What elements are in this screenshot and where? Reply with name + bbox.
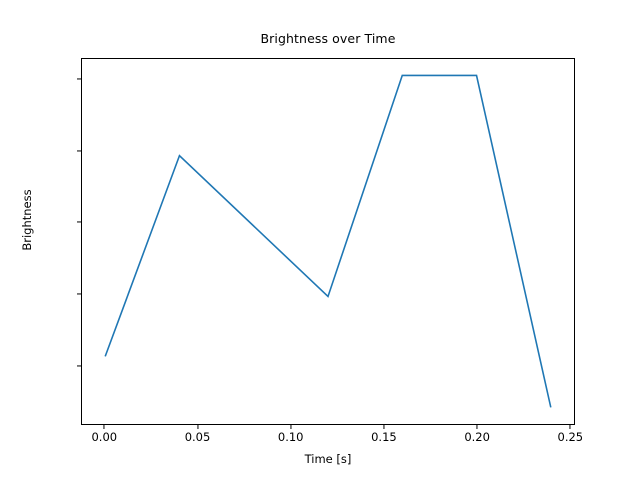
matplotlib-figure: Brightness over Time Brightness 30004000…	[0, 0, 640, 480]
x-tick-label: 0.05	[185, 430, 211, 444]
x-tick-mark	[477, 425, 478, 429]
x-tick-mark	[104, 425, 105, 429]
x-tick-label: 0.10	[278, 430, 304, 444]
x-axis-label: Time [s]	[81, 452, 575, 466]
y-axis-label: Brightness	[20, 170, 34, 270]
line-series-brightness	[82, 59, 574, 424]
x-tick-mark	[197, 425, 198, 429]
x-tick-mark	[570, 425, 571, 429]
x-tick-label: 0.20	[464, 430, 490, 444]
data-polyline	[105, 75, 551, 407]
chart-title: Brightness over Time	[81, 31, 575, 46]
x-tick-label: 0.15	[371, 430, 397, 444]
plot-area	[81, 58, 575, 425]
x-tick-label: 0.25	[558, 430, 584, 444]
x-tick-mark	[290, 425, 291, 429]
x-tick-mark	[383, 425, 384, 429]
x-tick-label: 0.00	[91, 430, 117, 444]
